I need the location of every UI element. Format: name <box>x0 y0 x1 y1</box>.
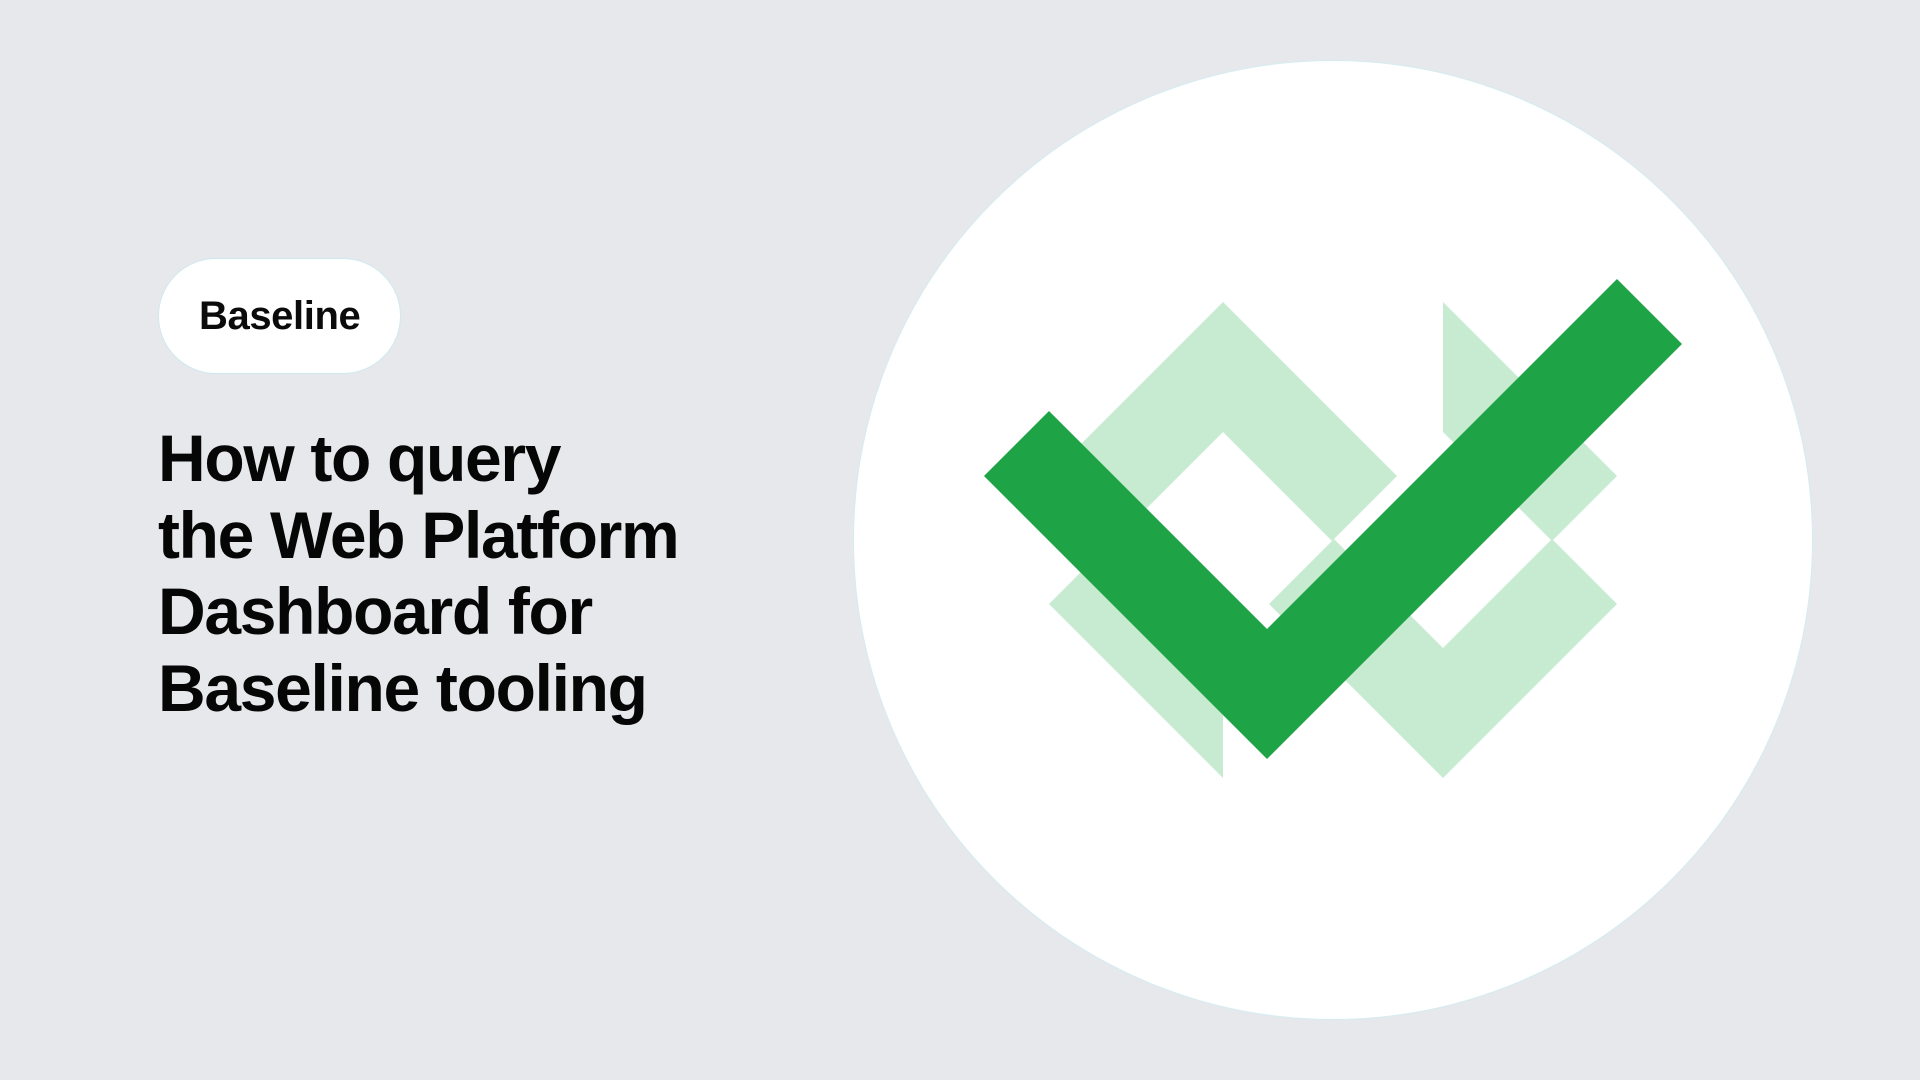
baseline-badge-label: Baseline <box>199 296 360 336</box>
slide-canvas: Baseline How to query the Web Platform D… <box>0 0 1920 1080</box>
baseline-badge[interactable]: Baseline <box>158 258 401 374</box>
page-title: How to query the Web Platform Dashboard … <box>158 420 838 726</box>
baseline-check-icon <box>893 100 1773 980</box>
page-title-line-1: How to query <box>158 420 838 497</box>
page-title-line-2: the Web Platform <box>158 497 838 574</box>
page-title-line-4: Baseline tooling <box>158 650 838 727</box>
baseline-logo-illustration <box>853 60 1813 1020</box>
left-content-column: Baseline How to query the Web Platform D… <box>158 0 838 1080</box>
page-title-line-3: Dashboard for <box>158 573 838 650</box>
